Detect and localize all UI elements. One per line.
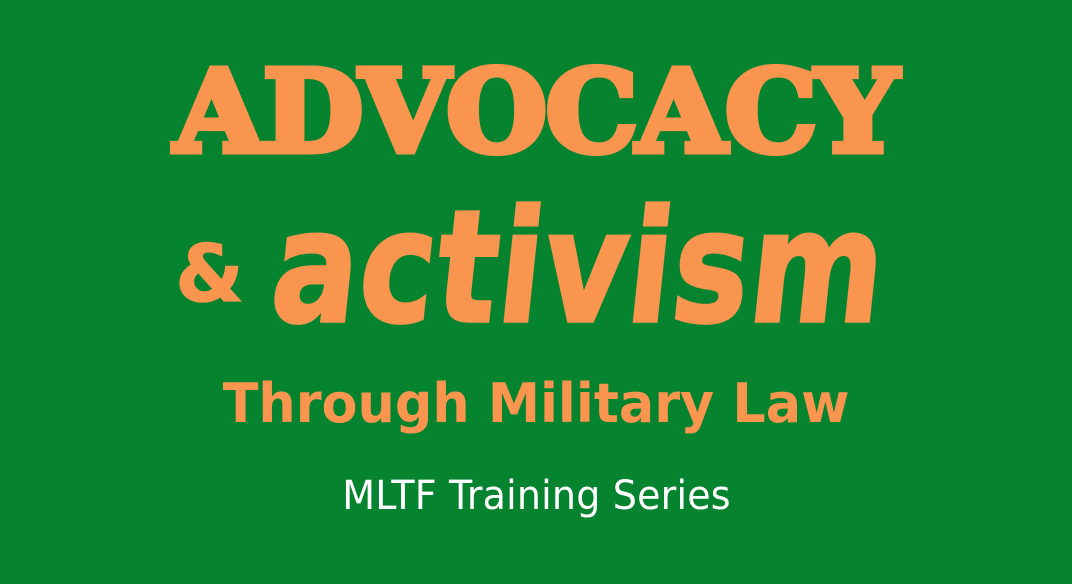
caption: MLTF Training Series	[0, 470, 1072, 522]
headline-script-text: activism	[265, 190, 894, 346]
headline-activism: & activism	[0, 172, 1072, 340]
ampersand-glyph: &	[175, 236, 243, 314]
headline-primary-text: ADVOCACY	[175, 67, 898, 159]
subtitle-text: Through Military Law	[223, 377, 850, 431]
title-slide: ADVOCACY & activism Through Military Law…	[0, 0, 1072, 584]
caption-text: MLTF Training Series	[342, 476, 731, 516]
headline-advocacy: ADVOCACY	[0, 58, 1072, 168]
subtitle: Through Military Law	[0, 372, 1072, 436]
